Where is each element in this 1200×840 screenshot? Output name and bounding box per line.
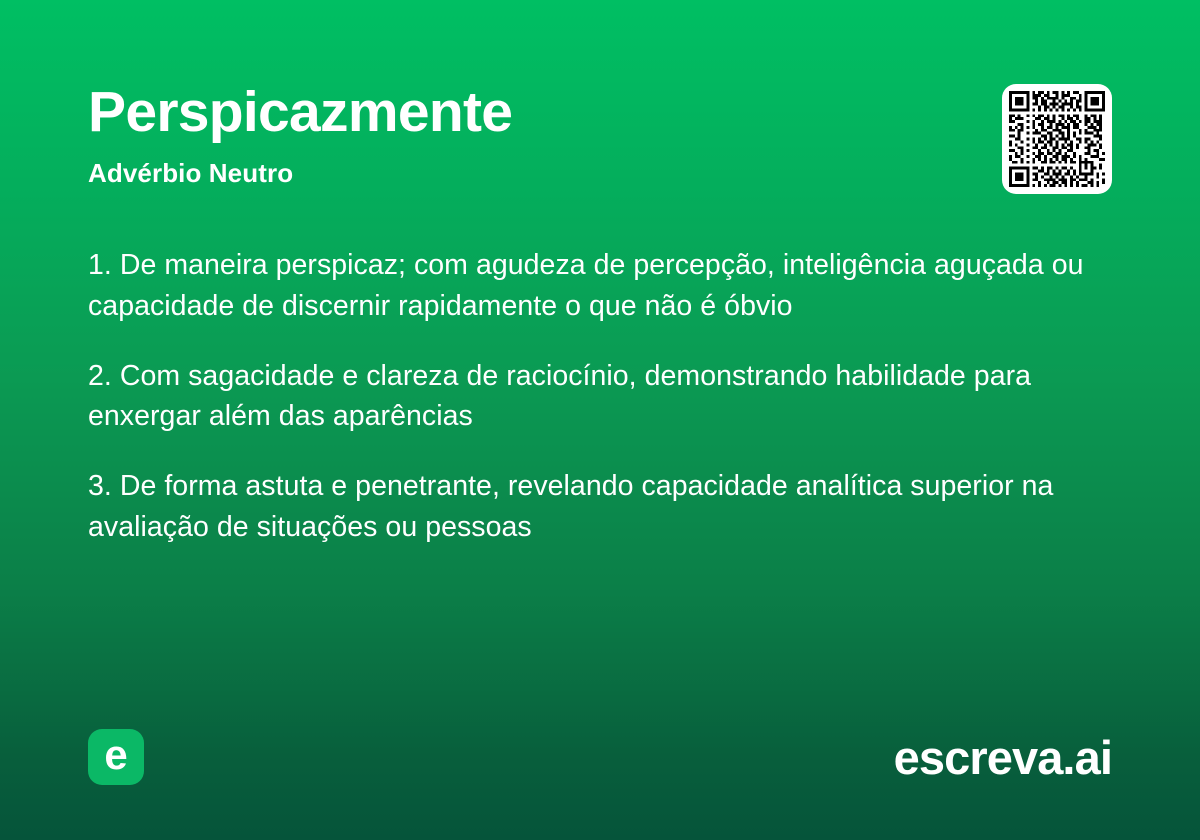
definition-item: 2. Com sagacidade e clareza de raciocíni… — [88, 356, 1108, 438]
definitions-list: 1. De maneira perspicaz; com agudeza de … — [88, 245, 1108, 548]
card-header: Perspicazmente Advérbio Neutro — [88, 84, 1112, 194]
card-footer: e escreva.ai — [88, 728, 1112, 786]
word-definition-card: Perspicazmente Advérbio Neutro — [0, 0, 1200, 840]
qr-code-icon[interactable] — [1002, 84, 1112, 194]
word-class-label: Advérbio Neutro — [88, 160, 512, 186]
headings-group: Perspicazmente Advérbio Neutro — [88, 84, 512, 186]
page-title: Perspicazmente — [88, 84, 512, 141]
definition-item: 1. De maneira perspicaz; com agudeza de … — [88, 245, 1108, 327]
definition-item: 3. De forma astuta e penetrante, revelan… — [88, 466, 1108, 548]
logo-letter: e — [104, 734, 127, 776]
escreva-logo-icon: e — [88, 729, 144, 785]
brand-wordmark: escreva.ai — [894, 734, 1112, 781]
